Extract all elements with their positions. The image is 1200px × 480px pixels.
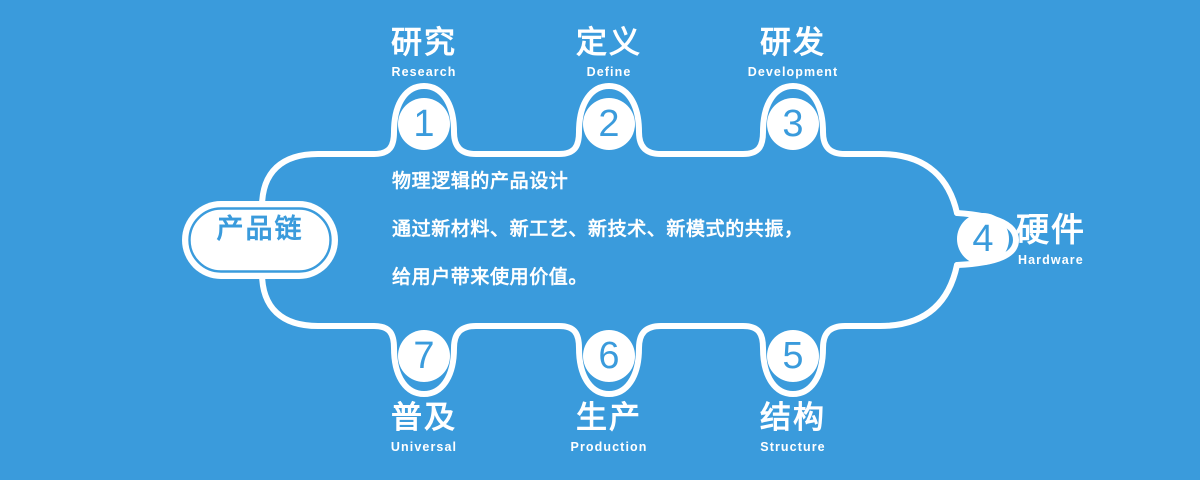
- node-label-production-cn: 生产: [549, 401, 669, 434]
- node-label-development[interactable]: 研发 Development: [723, 26, 863, 79]
- node-label-hardware[interactable]: 硬件 Hardware: [1016, 212, 1176, 266]
- center-description-line-2: 通过新材料、新工艺、新技术、新模式的共振，: [392, 220, 912, 239]
- product-chain-infographic: 1 2 3 4 7: [0, 0, 1200, 480]
- node-label-structure-cn: 结构: [733, 401, 853, 434]
- node-label-production-en: Production: [549, 441, 669, 454]
- center-description: 物理逻辑的产品设计 通过新材料、新工艺、新技术、新模式的共振， 给用户带来使用价…: [392, 172, 912, 287]
- hub-label: 产品链: [190, 216, 330, 243]
- node-label-universal-en: Universal: [364, 441, 484, 454]
- node-label-structure[interactable]: 结构 Structure: [733, 401, 853, 454]
- node-label-hardware-cn: 硬件: [1016, 212, 1176, 248]
- node-label-universal[interactable]: 普及 Universal: [364, 401, 484, 454]
- node-label-development-cn: 研发: [723, 26, 863, 59]
- node-label-define-en: Define: [549, 66, 669, 79]
- node-label-hardware-en: Hardware: [1016, 254, 1176, 267]
- node-label-universal-cn: 普及: [364, 401, 484, 434]
- node-label-define[interactable]: 定义 Define: [549, 26, 669, 79]
- node-label-research-cn: 研究: [364, 26, 484, 59]
- node-label-development-en: Development: [723, 66, 863, 79]
- node-label-structure-en: Structure: [733, 441, 853, 454]
- node-label-define-cn: 定义: [549, 26, 669, 59]
- node-label-production[interactable]: 生产 Production: [549, 401, 669, 454]
- center-description-line-1: 物理逻辑的产品设计: [392, 172, 912, 191]
- node-label-research[interactable]: 研究 Research: [364, 26, 484, 79]
- center-description-line-3: 给用户带来使用价值。: [392, 268, 912, 287]
- node-label-research-en: Research: [364, 66, 484, 79]
